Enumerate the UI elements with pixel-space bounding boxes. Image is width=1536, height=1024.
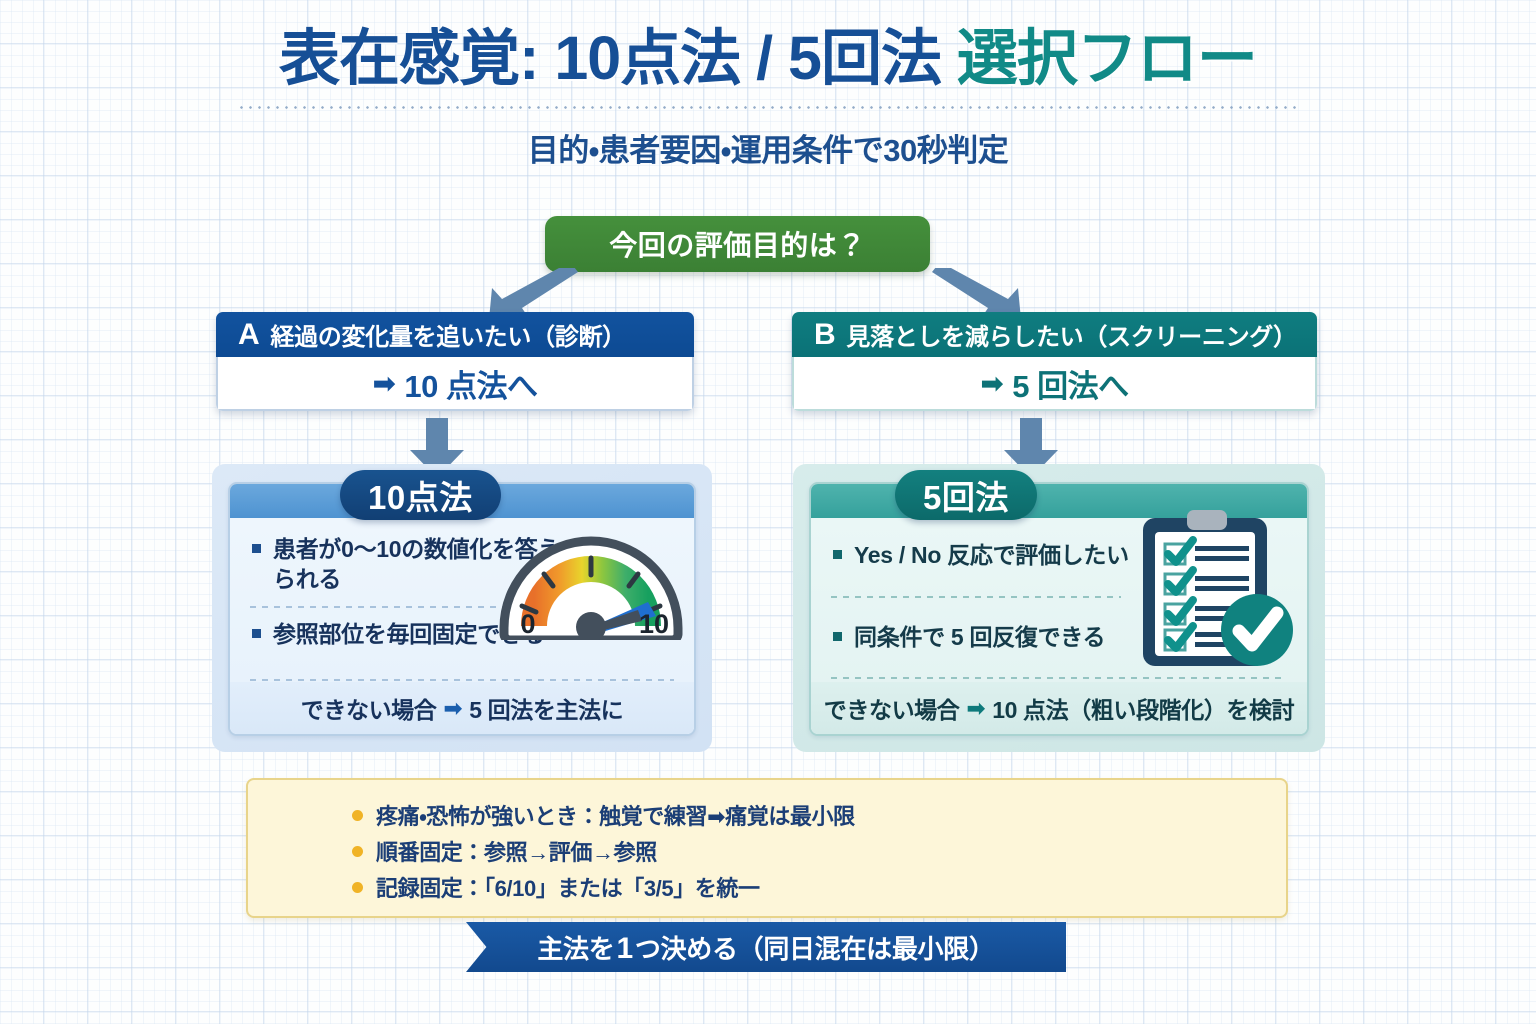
card-ten-point-footer-prefix: できない場合 (301, 691, 437, 725)
page-header: 表在感覚: 10点法 / 5回法 選択フロー 目的・患者要因・運用条件で30秒判… (0, 24, 1536, 170)
card-ten-point-inner: 0 10 患者が0〜10の数値化を答えられる 参照部位を毎回固定できる できない… (228, 482, 696, 736)
card-five-trial-inner: Yes / No 反応で評価したい 同条件で 5 回反復できる できない場合 ➡… (809, 482, 1309, 736)
branch-b[interactable]: B 見落としを減らしたい（スクリーニング） ➡ 5 回法へ (792, 312, 1317, 411)
branch-b-arrow-icon: ➡ (980, 367, 1003, 400)
branch-b-letter: B (814, 320, 835, 350)
page-title-accent: 選択フロー (957, 24, 1257, 92)
ribbon-text-before: 主法を (537, 929, 614, 966)
note-item: 疼痛・恐怖が強いとき：触覚で練習➡痛覚は最小限 (248, 797, 1286, 833)
card-five-trial-footer-prefix: できない場合 (824, 691, 960, 725)
bullet-square-icon (252, 629, 261, 638)
card-ten-point-footer: できない場合 ➡ 5 回法を主法に (230, 682, 694, 734)
card-ten-point-badge-label: 10点法 (368, 471, 473, 519)
card-five-trial: 5回法 (793, 464, 1325, 752)
branch-a-arrow-icon: ➡ (372, 367, 395, 400)
bullet-square-icon (252, 544, 261, 553)
branch-a-header: A 経過の変化量を追いたい（診断） (216, 312, 694, 357)
branch-b-header: B 見落としを減らしたい（スクリーニング） (792, 312, 1317, 357)
divider (831, 596, 1121, 598)
note-text-3: 記録固定：「6/10」または「3/5」を統一 (376, 871, 760, 903)
branch-b-action[interactable]: ➡ 5 回法へ (792, 357, 1317, 411)
card-ten-point-body: 0 10 患者が0〜10の数値化を答えられる 参照部位を毎回固定できる できない… (230, 518, 694, 734)
note-item: 記録固定：「6/10」または「3/5」を統一 (248, 869, 1286, 905)
note-item: 順番固定：参照→評価→参照 (248, 833, 1286, 869)
divider (250, 679, 674, 681)
branch-a-action[interactable]: ➡ 10 点法へ (216, 357, 694, 411)
card-five-trial-body: Yes / No 反応で評価したい 同条件で 5 回反復できる できない場合 ➡… (811, 518, 1307, 734)
clipboard-checklist-icon (1119, 500, 1305, 675)
divider (250, 606, 522, 608)
card-five-trial-bullet-2: 同条件で 5 回反復できる (854, 622, 1105, 652)
card-ten-point-footer-text: 5 回法を主法に (469, 691, 623, 725)
card-five-trial-badge: 5回法 (895, 470, 1037, 520)
card-ten-point: 10点法 (212, 464, 712, 752)
divider (831, 677, 1287, 679)
note-text-1: 疼痛・恐怖が強いとき：触覚で練習➡痛覚は最小限 (376, 799, 855, 831)
conclusion-ribbon: 主法を 1 つ決める（同日混在は最小限） (466, 922, 1066, 972)
title-divider (237, 106, 1299, 109)
note-text-2: 順番固定：参照→評価→参照 (376, 835, 657, 867)
bullet-square-icon (833, 632, 842, 641)
gauge-icon: 0 10 (498, 528, 684, 640)
branch-b-action-label: 5 回法へ (1012, 361, 1128, 406)
card-five-trial-footer-arrow-icon: ➡ (966, 695, 985, 722)
question-box[interactable]: 今回の評価目的は？ (545, 216, 930, 272)
card-five-trial-bullet-1: Yes / No 反応で評価したい (854, 540, 1129, 570)
ribbon-number: 1 (616, 932, 632, 966)
card-ten-point-footer-arrow-icon: ➡ (443, 695, 462, 722)
page-title-main: 表在感覚: 10点法 / 5回法 (279, 24, 941, 92)
notes-box: 疼痛・恐怖が強いとき：触覚で練習➡痛覚は最小限 順番固定：参照→評価→参照 記録… (246, 778, 1288, 918)
branch-a-title: 経過の変化量を追いたい（診断） (270, 317, 626, 352)
card-ten-point-badge: 10点法 (340, 470, 501, 520)
note-bullet-icon (352, 810, 363, 821)
card-five-trial-badge-label: 5回法 (923, 471, 1009, 519)
infographic-page: 表在感覚: 10点法 / 5回法 選択フロー 目的・患者要因・運用条件で30秒判… (0, 0, 1536, 1024)
ribbon-text-after: つ決める（同日混在は最小限） (635, 929, 995, 966)
gauge-min-label: 0 (520, 609, 535, 639)
card-five-trial-footer: できない場合 ➡ 10 点法（粗い段階化）を検討 (811, 682, 1307, 734)
page-title: 表在感覚: 10点法 / 5回法 選択フロー (0, 24, 1536, 92)
note-bullet-icon (352, 846, 363, 857)
gauge-max-label: 10 (639, 609, 669, 639)
branch-b-title: 見落としを減らしたい（スクリーニング） (846, 317, 1296, 352)
page-subtitle: 目的・患者要因・運用条件で30秒判定 (0, 125, 1536, 170)
branch-a-action-label: 10 点法へ (404, 361, 537, 406)
card-five-trial-footer-text: 10 点法（粗い段階化）を検討 (992, 691, 1294, 725)
note-bullet-icon (352, 882, 363, 893)
branch-a[interactable]: A 経過の変化量を追いたい（診断） ➡ 10 点法へ (216, 312, 694, 411)
bullet-square-icon (833, 550, 842, 559)
branch-a-letter: A (238, 320, 259, 350)
question-label: 今回の評価目的は？ (609, 224, 866, 264)
